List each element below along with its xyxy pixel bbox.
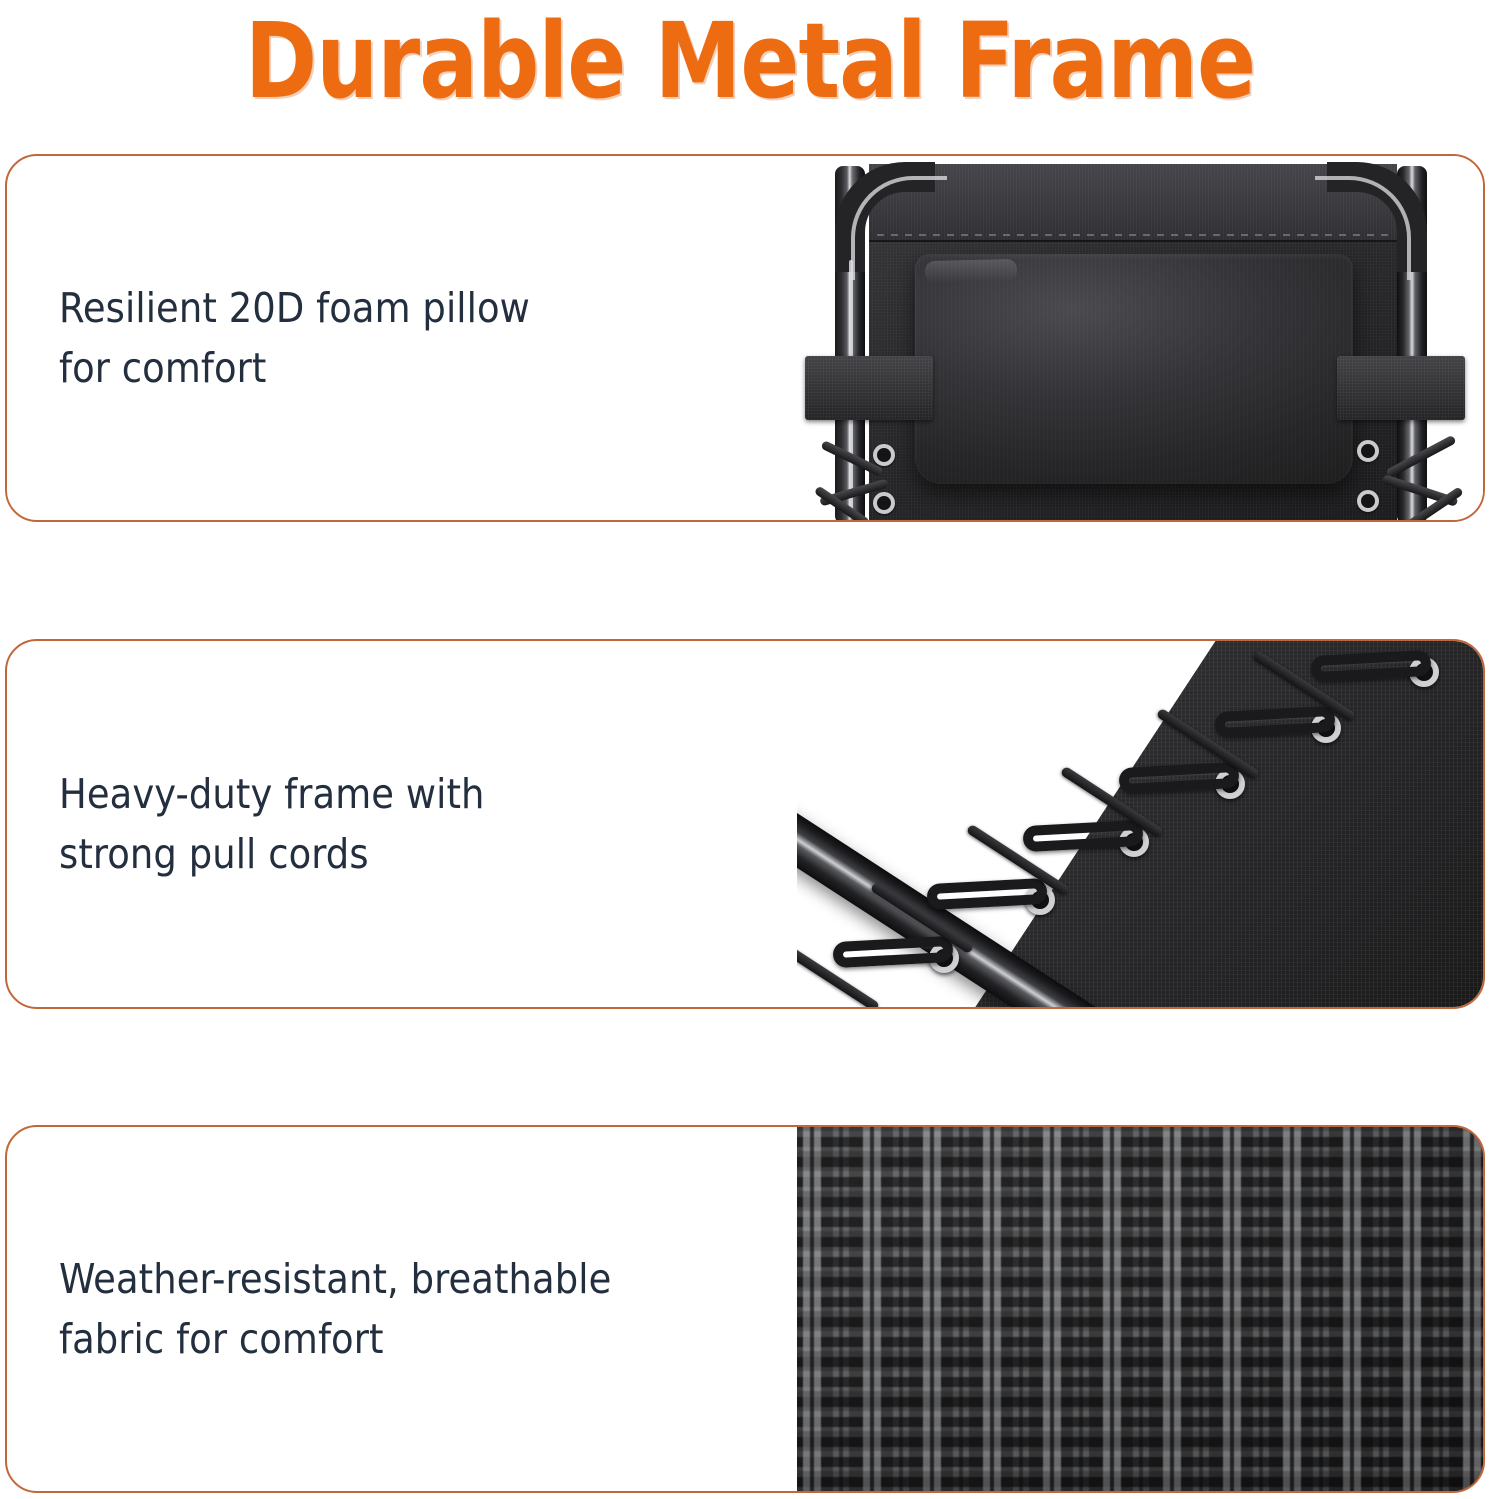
foam-pillow-fold-highlight [925,259,1018,283]
fabric-strap-left [805,356,933,420]
feature-line-2: fabric for comfort [59,1309,783,1369]
feature-card-breathable-fabric: Weather-resistant, breathable fabric for… [5,1125,1485,1493]
feature-text-breathable-fabric: Weather-resistant, breathable fabric for… [7,1127,797,1491]
feature-card-foam-pillow: Resilient 20D foam pillow for comfort [5,154,1485,522]
feature-image-breathable-fabric [797,1127,1483,1491]
feature-line-2: for comfort [59,338,783,398]
fabric-strap-right [1337,356,1465,420]
grommet [873,444,895,466]
feature-line-1: Weather-resistant, breathable [59,1249,783,1309]
feature-text-heavy-duty-frame: Heavy-duty frame with strong pull cords [7,641,797,1007]
feature-text-foam-pillow: Resilient 20D foam pillow for comfort [7,156,797,520]
feature-image-heavy-duty-frame [797,641,1483,1007]
product-feature-infographic: Durable Metal Frame Resilient 20D foam p… [0,0,1500,1499]
grommet [873,492,895,514]
hem-stitching [877,234,1389,236]
grommet [1357,440,1379,462]
grommet [1357,490,1379,512]
woven-fabric-vignette [797,1127,1483,1491]
feature-card-heavy-duty-frame: Heavy-duty frame with strong pull cords [5,639,1485,1009]
page-title: Durable Metal Frame [53,2,1448,120]
feature-image-foam-pillow [797,156,1483,520]
feature-line-1: Heavy-duty frame with [59,764,783,824]
feature-line-1: Resilient 20D foam pillow [59,278,783,338]
foam-pillow [915,254,1353,484]
feature-line-2: strong pull cords [59,824,783,884]
